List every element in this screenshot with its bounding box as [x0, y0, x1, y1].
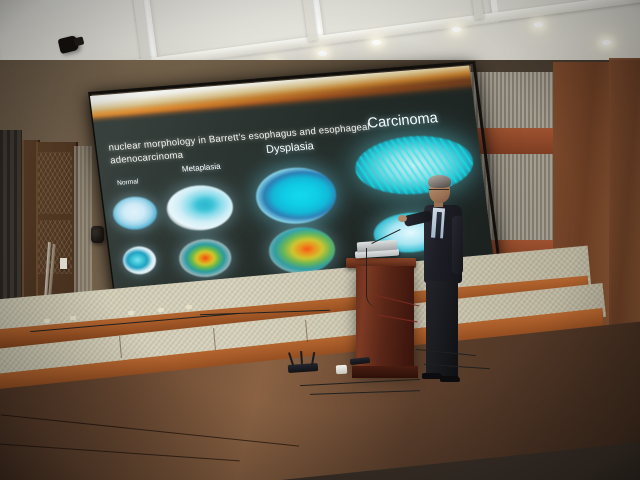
nucleus-dysplasia-bottom — [266, 225, 338, 276]
presentation-photo: nuclear morphology in Barrett's esophagu… — [0, 0, 640, 480]
ceiling-downlight — [318, 51, 327, 56]
ceiling-downlight — [534, 22, 543, 27]
cable-clip — [186, 305, 192, 310]
podium-body[interactable] — [356, 266, 414, 370]
presenter-shoe — [422, 373, 442, 379]
nucleus-metaplasia-top — [164, 183, 235, 233]
presenter-other-arm — [452, 216, 463, 274]
nucleus-metaplasia-bottom — [177, 237, 234, 279]
presenter-legs — [426, 281, 458, 377]
column-label-dysplasia: Dysplasia — [265, 140, 314, 156]
stage-curtain — [0, 130, 22, 320]
ceiling-downlight — [452, 27, 461, 32]
presenter-hand — [398, 215, 407, 222]
ceiling-downlight — [602, 40, 611, 45]
cable-clip — [128, 311, 134, 316]
power-supply-brick — [336, 365, 347, 375]
ceiling-downlight — [372, 40, 381, 45]
column-label-normal: Normal — [117, 178, 139, 187]
door-grill — [38, 152, 72, 214]
presenter-hair — [428, 175, 451, 188]
cable-clip — [158, 308, 164, 313]
column-label-metaplasia: Metaplasia — [181, 162, 221, 174]
pointer-cable — [366, 248, 379, 308]
cable-clip — [70, 316, 76, 321]
cable-clip — [44, 319, 50, 324]
wall-speaker-icon — [91, 226, 104, 243]
nucleus-normal-bottom — [121, 245, 157, 275]
presenter-glasses — [429, 189, 449, 194]
nucleus-dysplasia-top — [253, 165, 340, 227]
door-tag — [60, 258, 67, 269]
podium-base — [352, 366, 418, 378]
presenter-shoe — [440, 376, 460, 382]
nucleus-normal-top — [111, 195, 159, 231]
